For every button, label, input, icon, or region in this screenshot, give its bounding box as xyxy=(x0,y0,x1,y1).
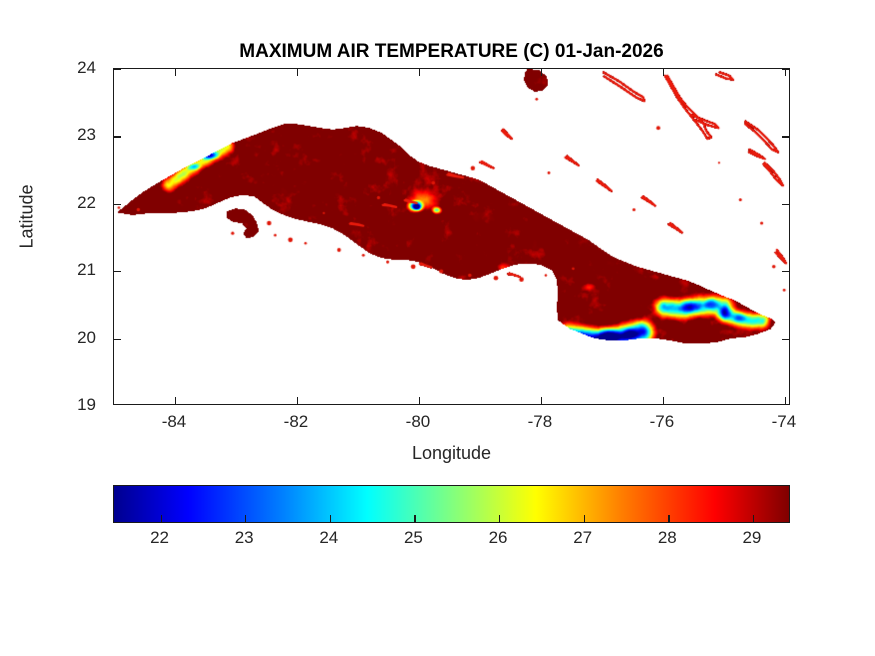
colorbar-tick-mark xyxy=(245,515,246,522)
colorbar-tick-label: 27 xyxy=(573,528,592,548)
temperature-heatmap xyxy=(114,69,789,404)
figure-canvas: MAXIMUM AIR TEMPERATURE (C) 01-Jan-2026 … xyxy=(0,0,875,656)
x-tick-mark xyxy=(175,69,176,76)
x-tick-label: -80 xyxy=(406,412,431,432)
y-tick-mark xyxy=(114,339,121,340)
x-tick-mark xyxy=(663,69,664,76)
x-tick-mark xyxy=(419,397,420,404)
x-axis-label: Longitude xyxy=(113,443,790,464)
colorbar-tick-mark xyxy=(161,515,162,522)
x-tick-label: -76 xyxy=(650,412,675,432)
x-tick-mark xyxy=(419,69,420,76)
y-tick-mark xyxy=(114,271,121,272)
colorbar-tick-label: 29 xyxy=(742,528,761,548)
colorbar-tick-mark xyxy=(668,515,669,522)
y-tick-mark xyxy=(114,136,121,137)
colorbar-tick-label: 28 xyxy=(658,528,677,548)
x-tick-mark xyxy=(175,397,176,404)
y-tick-label: 21 xyxy=(77,260,96,280)
x-tick-mark xyxy=(541,69,542,76)
colorbar-tick-mark xyxy=(584,515,585,522)
y-tick-label: 20 xyxy=(77,328,96,348)
colorbar-tick-mark xyxy=(499,515,500,522)
colorbar-gradient xyxy=(113,485,790,523)
x-tick-mark xyxy=(541,397,542,404)
y-tick-mark xyxy=(114,69,121,70)
y-tick-label: 24 xyxy=(77,58,96,78)
y-tick-label: 23 xyxy=(77,125,96,145)
colorbar-tick-label: 22 xyxy=(150,528,169,548)
colorbar-tick-label: 24 xyxy=(319,528,338,548)
y-tick-label: 22 xyxy=(77,193,96,213)
map-axes xyxy=(113,68,790,405)
x-tick-label: -84 xyxy=(162,412,187,432)
colorbar-tick-mark xyxy=(330,515,331,522)
y-tick-mark xyxy=(782,136,789,137)
x-tick-mark xyxy=(785,397,786,404)
y-tick-mark xyxy=(782,69,789,70)
x-tick-label: -78 xyxy=(528,412,553,432)
page-title: MAXIMUM AIR TEMPERATURE (C) 01-Jan-2026 xyxy=(113,41,790,63)
x-tick-mark xyxy=(663,397,664,404)
colorbar-tick-label: 23 xyxy=(235,528,254,548)
x-tick-mark xyxy=(297,69,298,76)
y-tick-label: 19 xyxy=(77,395,96,415)
colorbar-tick-mark xyxy=(414,515,415,522)
colorbar-tick-label: 26 xyxy=(489,528,508,548)
colorbar-tick-label: 25 xyxy=(404,528,423,548)
colorbar-tick-mark xyxy=(753,515,754,522)
x-tick-label: -74 xyxy=(772,412,797,432)
x-tick-label: -82 xyxy=(284,412,309,432)
colorbar-container xyxy=(113,485,790,523)
y-axis-label: Latitude xyxy=(17,127,38,307)
y-tick-mark xyxy=(114,204,121,205)
x-tick-mark xyxy=(297,397,298,404)
y-tick-mark xyxy=(782,204,789,205)
y-tick-mark xyxy=(782,271,789,272)
y-tick-mark xyxy=(782,339,789,340)
